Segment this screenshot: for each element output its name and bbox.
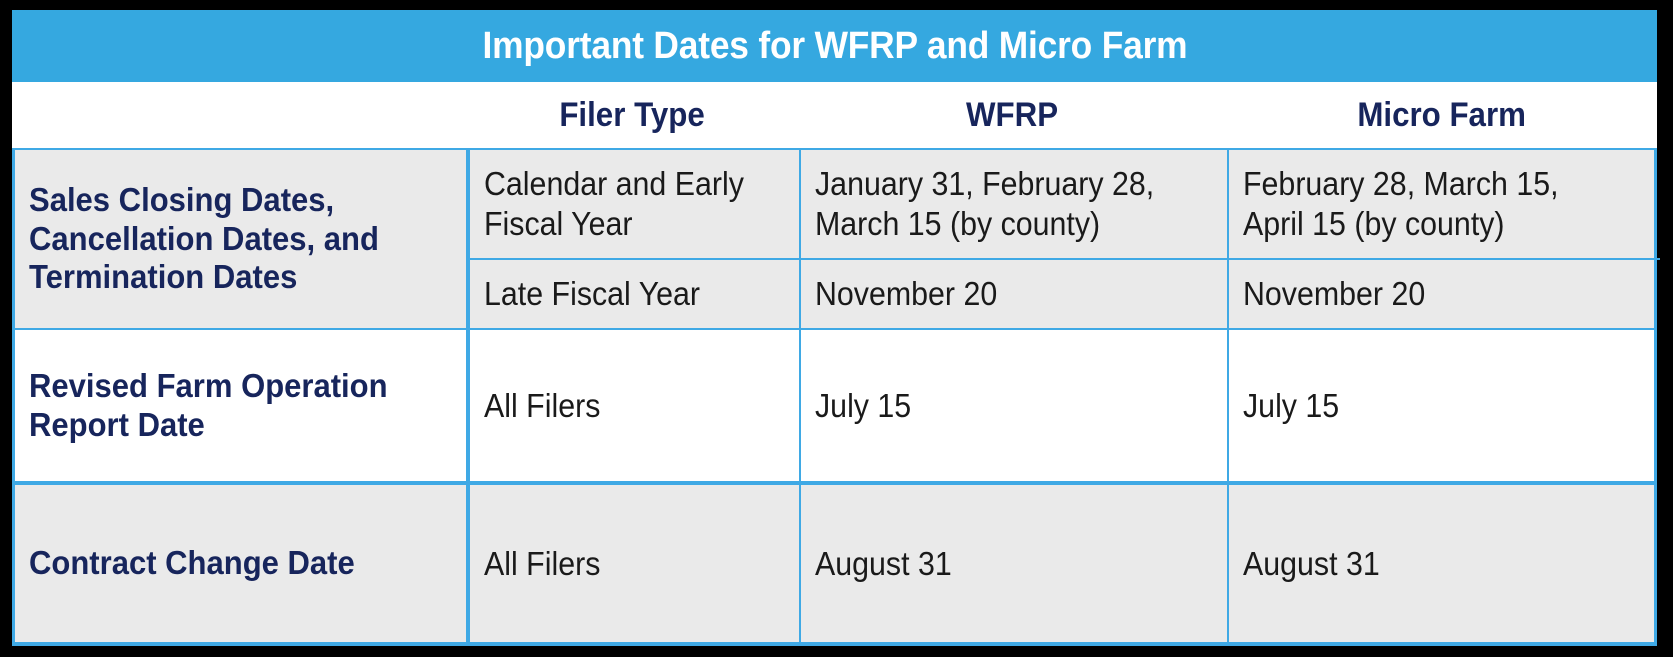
cell-filer-type: All Filers [470, 485, 801, 642]
cell-text: November 20 [1243, 274, 1425, 314]
column-header-wfrp: WFRP [798, 82, 1226, 148]
column-header-filer-type-label: Filer Type [560, 96, 705, 135]
row-group-subrows: Calendar and Early Fiscal Year January 3… [470, 150, 1660, 328]
cell-text: All Filers [484, 544, 600, 584]
cell-micro-farm: July 15 [1229, 330, 1660, 481]
cell-micro-farm: February 28, March 15, April 15 (by coun… [1229, 150, 1660, 258]
cell-text: Late Fiscal Year [484, 274, 700, 314]
cell-filer-type: Calendar and Early Fiscal Year [470, 150, 801, 258]
row-group-subrows: All Filers August 31 August 31 [470, 485, 1660, 642]
page-title: Important Dates for WFRP and Micro Farm [482, 25, 1187, 68]
cell-text: February 28, March 15, April 15 (by coun… [1243, 164, 1559, 243]
cell-wfrp: November 20 [801, 260, 1229, 328]
table-row: Calendar and Early Fiscal Year January 3… [470, 150, 1660, 258]
cell-filer-type: Late Fiscal Year [470, 260, 801, 328]
table-column-header-row: Filer Type WFRP Micro Farm [12, 82, 1657, 148]
cell-micro-farm: November 20 [1229, 260, 1660, 328]
table-row: All Filers August 31 August 31 [470, 485, 1660, 642]
column-header-blank [12, 82, 467, 148]
row-label-contract-change-date: Contract Change Date [15, 485, 470, 642]
cell-text: July 15 [815, 386, 911, 426]
row-label-text: Revised Farm Operation Report Date [29, 367, 432, 445]
important-dates-table-card: Important Dates for WFRP and Micro Farm … [12, 10, 1657, 646]
table-body: Sales Closing Dates, Cancellation Dates,… [12, 148, 1657, 646]
cell-text: Calendar and Early Fiscal Year [484, 164, 744, 243]
cell-text: July 15 [1243, 386, 1339, 426]
row-label-sales-closing-dates: Sales Closing Dates, Cancellation Dates,… [15, 150, 470, 328]
cell-filer-type: All Filers [470, 330, 801, 481]
cell-text: January 31, February 28, March 15 (by co… [815, 164, 1154, 243]
cell-wfrp: August 31 [801, 485, 1229, 642]
cell-text: All Filers [484, 386, 600, 426]
row-label-text: Contract Change Date [29, 544, 355, 583]
table-row: Late Fiscal Year November 20 November 20 [470, 258, 1660, 328]
cell-text: August 31 [1243, 544, 1380, 584]
row-group-subrows: All Filers July 15 July 15 [470, 330, 1660, 481]
cell-text: August 31 [815, 544, 952, 584]
cell-wfrp: January 31, February 28, March 15 (by co… [801, 150, 1229, 258]
table-title-bar: Important Dates for WFRP and Micro Farm [12, 10, 1657, 82]
row-label-revised-farm-operation-report-date: Revised Farm Operation Report Date [15, 330, 470, 481]
cell-micro-farm: August 31 [1229, 485, 1660, 642]
outer-frame: Important Dates for WFRP and Micro Farm … [0, 0, 1673, 657]
column-header-wfrp-label: WFRP [966, 96, 1058, 135]
table-row-group-revised-farm-operation-report-date: Revised Farm Operation Report Date All F… [15, 328, 1654, 481]
cell-text: November 20 [815, 274, 997, 314]
cell-wfrp: July 15 [801, 330, 1229, 481]
table-row-group-sales-closing-dates: Sales Closing Dates, Cancellation Dates,… [15, 150, 1654, 328]
column-header-micro-farm: Micro Farm [1226, 82, 1657, 148]
column-header-filer-type: Filer Type [467, 82, 798, 148]
table-row-group-contract-change-date: Contract Change Date All Filers August 3… [15, 481, 1654, 642]
row-label-text: Sales Closing Dates, Cancellation Dates,… [29, 181, 432, 298]
table-row: All Filers July 15 July 15 [470, 330, 1660, 481]
column-header-micro-farm-label: Micro Farm [1357, 96, 1526, 135]
